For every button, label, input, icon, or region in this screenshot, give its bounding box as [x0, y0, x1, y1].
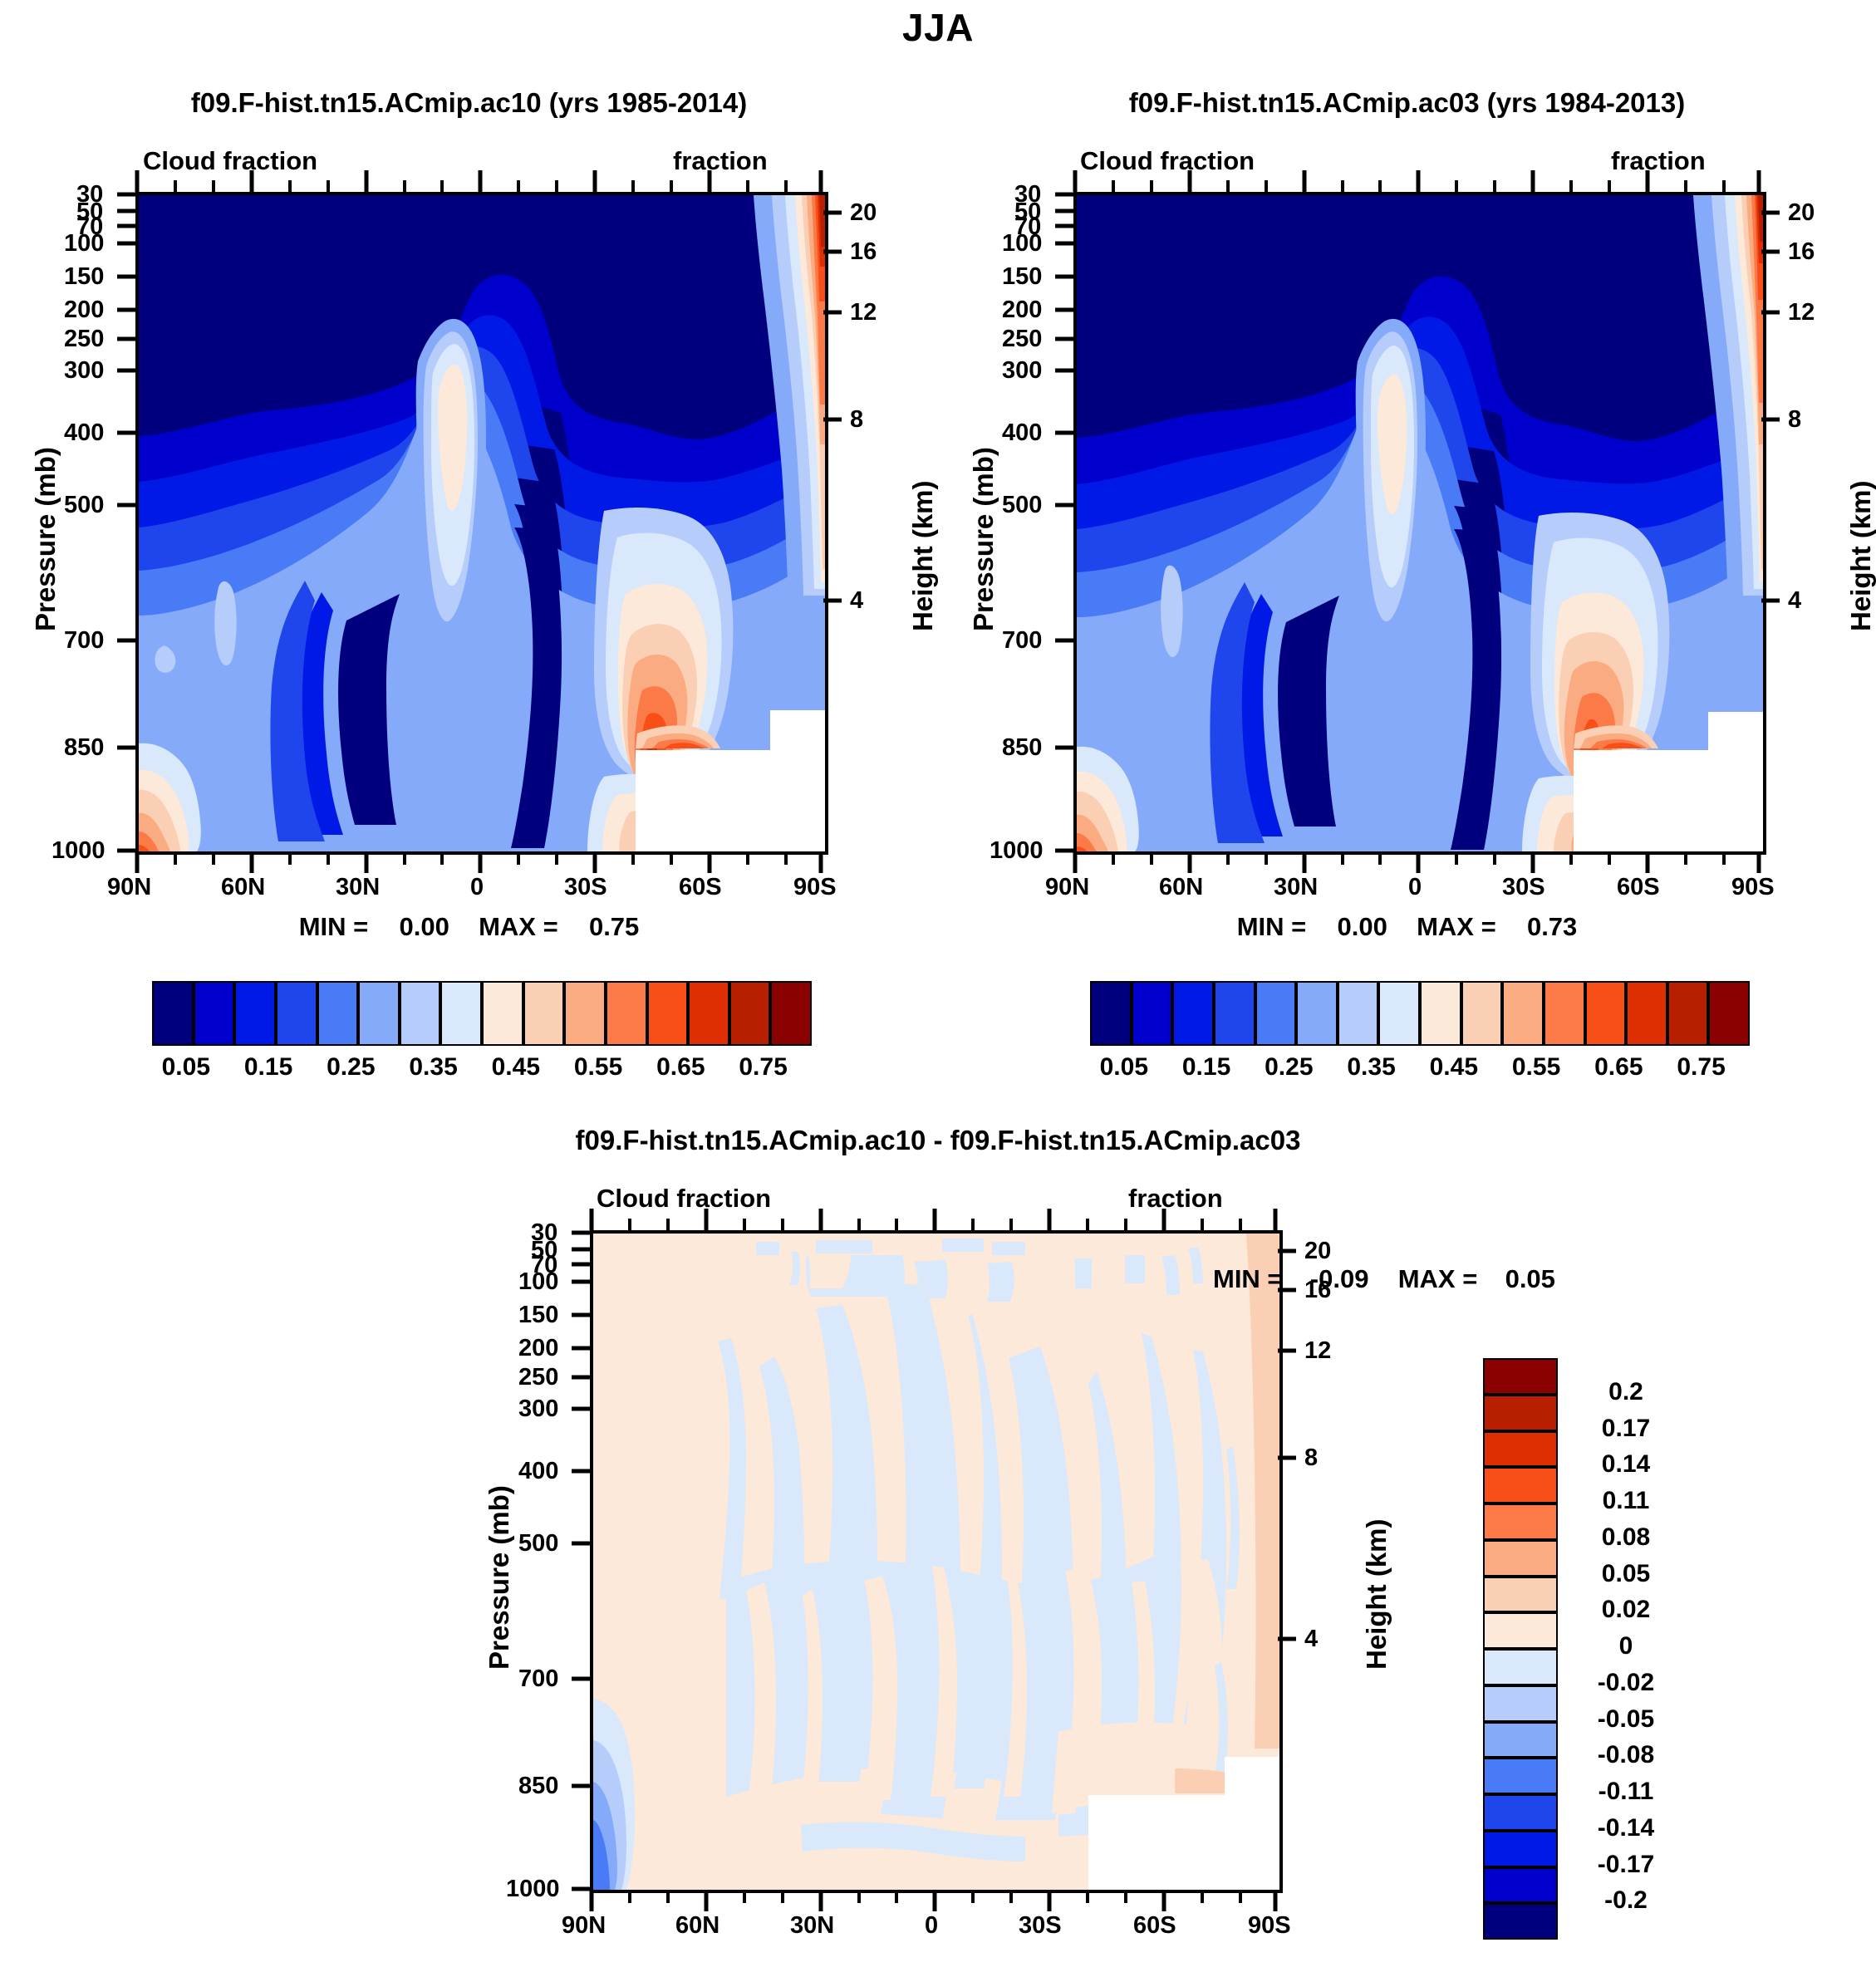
panel-diff-min-label: MIN =: [1213, 1264, 1283, 1293]
htick-b-12: 12: [1788, 299, 1815, 326]
colorbar-cell: [276, 981, 317, 1046]
lat-d-30N: 30N: [790, 1912, 834, 1940]
ptick-d-200: 200: [518, 1335, 558, 1362]
colorbar-tick-label: 0.75: [739, 1053, 787, 1082]
colorbar-tick-label: 0.35: [1347, 1053, 1395, 1082]
diff-colorbar-cell: [1483, 1540, 1558, 1577]
colorbar-tick-label: 0.35: [409, 1053, 457, 1082]
diff-colorbar-cell: [1483, 1503, 1558, 1540]
panel-diff-max-label: MAX =: [1398, 1264, 1478, 1293]
colorbar-cell: [1090, 981, 1132, 1046]
colorbar-tick-label: 0.05: [1100, 1053, 1148, 1082]
colorbar-tick-label: 0.75: [1677, 1053, 1725, 1082]
ptick-200: 200: [64, 297, 104, 324]
lat-0: 0: [470, 874, 484, 901]
colorbar-cell: [770, 981, 812, 1046]
diff-colorbar-cell: [1483, 1612, 1558, 1649]
ptick-100: 100: [64, 230, 104, 258]
colorbar-cell: [1708, 981, 1750, 1046]
panel-b-y2label: Height (km): [1845, 481, 1876, 632]
lat-90N: 90N: [107, 874, 151, 901]
htick-b-16: 16: [1788, 238, 1815, 266]
panel-diff-min-value: -0.09: [1310, 1264, 1369, 1293]
panel-a-max-value: 0.75: [589, 912, 639, 941]
lat-d-90S: 90S: [1248, 1912, 1291, 1940]
htick-b-8: 8: [1788, 406, 1801, 434]
diff-colorbar-tick-label: 0.14: [1572, 1450, 1680, 1479]
colorbar-cell: [1378, 981, 1420, 1046]
figure-suptitle: JJA: [0, 5, 1876, 50]
ptick-d-700: 700: [518, 1665, 558, 1693]
htick-b-20: 20: [1788, 199, 1815, 227]
diff-colorbar-cell: [1483, 1794, 1558, 1831]
colorbar-cell: [688, 981, 729, 1046]
diff-colorbar-cell: [1483, 1431, 1558, 1468]
panel-b-plot-area: [1073, 192, 1766, 855]
lat-90S: 90S: [793, 874, 837, 901]
colorbar-tick-label: 0.45: [492, 1053, 540, 1082]
panel-b-colorbar: [1090, 981, 1750, 1046]
lat-d-90N: 90N: [562, 1912, 606, 1940]
colorbar-cell: [729, 981, 771, 1046]
ptick-b-100: 100: [1002, 230, 1042, 258]
panel-b-contour-field: [1077, 195, 1763, 851]
ptick-500: 500: [64, 492, 104, 519]
htick-d-12: 12: [1304, 1337, 1331, 1365]
panel-b-units-label: fraction: [1611, 146, 1706, 176]
htick-4: 4: [850, 587, 863, 615]
panel-a-title: f09.F-hist.tn15.ACmip.ac10 (yrs 1985-201…: [0, 87, 938, 119]
panel-b-max-value: 0.73: [1527, 912, 1577, 941]
colorbar-cell: [647, 981, 689, 1046]
htick-d-20: 20: [1304, 1238, 1331, 1265]
colorbar-cell: [358, 981, 400, 1046]
htick-8: 8: [850, 406, 863, 434]
panel-diff-max-value: 0.05: [1505, 1264, 1555, 1293]
colorbar-cell: [440, 981, 482, 1046]
htick-b-4: 4: [1788, 587, 1801, 615]
colorbar-cell: [1172, 981, 1214, 1046]
colorbar-cell: [523, 981, 565, 1046]
ptick-b-850: 850: [1002, 734, 1042, 762]
ptick-d-250: 250: [518, 1364, 558, 1391]
colorbar-cell: [564, 981, 606, 1046]
panel-a-y2label: Height (km): [907, 481, 939, 632]
panel-diff-contour-field: [593, 1234, 1279, 1890]
diff-colorbar-cell: [1483, 1577, 1558, 1613]
lat-30S: 30S: [564, 874, 607, 901]
panel-b-colorbar-labels: 0.050.150.250.350.450.550.650.75: [1090, 1053, 1750, 1087]
ptick-700: 700: [64, 627, 104, 655]
diff-colorbar-tick-label: -0.11: [1572, 1778, 1680, 1806]
diff-colorbar-cell: [1483, 1903, 1558, 1940]
colorbar-cell: [194, 981, 235, 1046]
lat-30N: 30N: [336, 874, 380, 901]
panel-a-ylabel: Pressure (mb): [30, 447, 61, 631]
ptick-b-1000: 1000: [990, 837, 1044, 865]
diff-colorbar-tick-label: -0.02: [1572, 1669, 1680, 1697]
colorbar-cell: [1255, 981, 1297, 1046]
lat-d-60S: 60S: [1133, 1912, 1176, 1940]
ptick-400: 400: [64, 419, 104, 447]
colorbar-cell: [1420, 981, 1461, 1046]
lat-d-0: 0: [925, 1912, 938, 1940]
diff-colorbar-cell: [1483, 1758, 1558, 1794]
ptick-d-150: 150: [518, 1302, 558, 1329]
diff-colorbar-tick-label: 0.08: [1572, 1523, 1680, 1552]
colorbar-cell: [1461, 981, 1503, 1046]
lat-d-60N: 60N: [675, 1912, 719, 1940]
htick-12: 12: [850, 299, 877, 326]
ptick-b-150: 150: [1002, 263, 1042, 291]
ptick-d-850: 850: [518, 1773, 558, 1800]
ptick-d-100: 100: [518, 1268, 558, 1296]
lat-60S: 60S: [679, 874, 722, 901]
ptick-d-500: 500: [518, 1530, 558, 1557]
panel-diff-colorbar-labels: 0.20.170.140.110.080.050.020-0.02-0.05-0…: [1572, 1358, 1721, 1940]
panel-b-min-value: 0.00: [1338, 912, 1387, 941]
panel-a-units-label: fraction: [673, 146, 768, 176]
diff-colorbar-tick-label: 0.17: [1572, 1415, 1680, 1443]
diff-colorbar-tick-label: -0.17: [1572, 1851, 1680, 1879]
colorbar-cell: [1502, 981, 1544, 1046]
colorbar-cell: [1667, 981, 1709, 1046]
panel-b-min-label: MIN =: [1237, 912, 1307, 941]
colorbar-cell: [482, 981, 523, 1046]
diff-colorbar-tick-label: 0.02: [1572, 1596, 1680, 1624]
panel-a-colorbar-labels: 0.050.150.250.350.450.550.650.75: [152, 1053, 812, 1087]
htick-16: 16: [850, 238, 877, 266]
colorbar-tick-label: 0.25: [1265, 1053, 1313, 1082]
panel-diff-minmax: MIN = -0.09 MAX = 0.05: [1213, 1264, 1555, 1294]
htick-20: 20: [850, 199, 877, 227]
diff-colorbar-cell: [1483, 1685, 1558, 1722]
ptick-150: 150: [64, 263, 104, 291]
diff-colorbar-tick-label: 0.11: [1572, 1487, 1680, 1515]
lat-d-30S: 30S: [1019, 1912, 1062, 1940]
diff-colorbar-tick-label: 0: [1572, 1632, 1680, 1660]
ptick-d-300: 300: [518, 1396, 558, 1423]
panel-diff-title: f09.F-hist.tn15.ACmip.ac10 - f09.F-hist.…: [0, 1125, 1876, 1156]
colorbar-cell: [317, 981, 359, 1046]
colorbar-tick-label: 0.65: [1594, 1053, 1643, 1082]
ptick-b-300: 300: [1002, 357, 1042, 385]
ptick-b-500: 500: [1002, 492, 1042, 519]
lat-b-30N: 30N: [1274, 874, 1318, 901]
diff-colorbar-tick-label: 0.2: [1572, 1378, 1680, 1406]
colorbar-tick-label: 0.15: [244, 1053, 292, 1082]
colorbar-tick-label: 0.15: [1182, 1053, 1230, 1082]
diff-colorbar-cell: [1483, 1395, 1558, 1431]
colorbar-cell: [152, 981, 194, 1046]
panel-b-ylabel: Pressure (mb): [968, 447, 999, 631]
panel-a-plot-area: [135, 192, 828, 855]
colorbar-tick-label: 0.55: [574, 1053, 622, 1082]
htick-d-4: 4: [1304, 1626, 1318, 1653]
ptick-d-400: 400: [518, 1458, 558, 1485]
ptick-b-250: 250: [1002, 326, 1042, 353]
ptick-d-1000: 1000: [506, 1876, 560, 1903]
ptick-b-700: 700: [1002, 627, 1042, 655]
diff-colorbar-cell: [1483, 1358, 1558, 1395]
colorbar-cell: [1132, 981, 1173, 1046]
panel-b-title: f09.F-hist.tn15.ACmip.ac03 (yrs 1984-201…: [938, 87, 1876, 119]
panel-a-minmax: MIN = 0.00 MAX = 0.75: [0, 912, 938, 942]
lat-b-90N: 90N: [1045, 874, 1089, 901]
diff-colorbar-tick-label: -0.2: [1572, 1886, 1680, 1915]
colorbar-cell: [234, 981, 276, 1046]
colorbar-cell: [1585, 981, 1627, 1046]
panel-a-min-label: MIN =: [299, 912, 369, 941]
diff-colorbar-cell: [1483, 1649, 1558, 1685]
colorbar-tick-label: 0.65: [656, 1053, 705, 1082]
panel-a-max-label: MAX =: [479, 912, 558, 941]
lat-b-30S: 30S: [1502, 874, 1545, 901]
colorbar-tick-label: 0.55: [1512, 1053, 1560, 1082]
diff-colorbar-cell: [1483, 1831, 1558, 1867]
colorbar-cell: [1296, 981, 1338, 1046]
panel-a-variable-label: Cloud fraction: [143, 146, 317, 176]
ptick-1000: 1000: [52, 837, 106, 865]
panel-a-min-value: 0.00: [400, 912, 449, 941]
figure-root: JJA f09.F-hist.tn15.ACmip.ac10 (yrs 1985…: [0, 0, 1876, 1967]
diff-colorbar-cell: [1483, 1722, 1558, 1759]
diff-colorbar-cell: [1483, 1867, 1558, 1904]
diff-colorbar-tick-label: -0.08: [1572, 1741, 1680, 1769]
lat-b-60N: 60N: [1159, 874, 1203, 901]
panel-diff-variable-label: Cloud fraction: [597, 1184, 771, 1214]
colorbar-tick-label: 0.45: [1430, 1053, 1478, 1082]
diff-colorbar-tick-label: 0.05: [1572, 1560, 1680, 1588]
panel-a-colorbar: [152, 981, 812, 1046]
colorbar-cell: [1338, 981, 1379, 1046]
panel-b-max-label: MAX =: [1417, 912, 1496, 941]
ptick-300: 300: [64, 357, 104, 385]
colorbar-cell: [1626, 981, 1667, 1046]
lat-b-60S: 60S: [1617, 874, 1660, 901]
ptick-b-400: 400: [1002, 419, 1042, 447]
panel-b-variable-label: Cloud fraction: [1080, 146, 1255, 176]
panel-diff-plot-area: [590, 1230, 1283, 1893]
diff-colorbar-tick-label: -0.05: [1572, 1705, 1680, 1734]
panel-diff-colorbar: [1483, 1358, 1558, 1940]
colorbar-cell: [1544, 981, 1585, 1046]
colorbar-tick-label: 0.25: [327, 1053, 375, 1082]
colorbar-cell: [400, 981, 441, 1046]
panel-diff-units-label: fraction: [1128, 1184, 1223, 1214]
panel-b-minmax: MIN = 0.00 MAX = 0.73: [938, 912, 1876, 942]
diff-colorbar-tick-label: -0.14: [1572, 1814, 1680, 1842]
colorbar-cell: [606, 981, 647, 1046]
htick-d-8: 8: [1304, 1445, 1318, 1472]
lat-b-90S: 90S: [1731, 874, 1775, 901]
lat-60N: 60N: [221, 874, 265, 901]
panel-a-contour-field: [139, 195, 825, 851]
ptick-b-200: 200: [1002, 297, 1042, 324]
panel-diff-ylabel: Pressure (mb): [484, 1485, 515, 1670]
lat-b-0: 0: [1408, 874, 1422, 901]
colorbar-tick-label: 0.05: [162, 1053, 210, 1082]
colorbar-cell: [1214, 981, 1255, 1046]
ptick-850: 850: [64, 734, 104, 762]
diff-colorbar-cell: [1483, 1467, 1558, 1503]
ptick-250: 250: [64, 326, 104, 353]
panel-diff-y2label: Height (km): [1361, 1519, 1392, 1670]
